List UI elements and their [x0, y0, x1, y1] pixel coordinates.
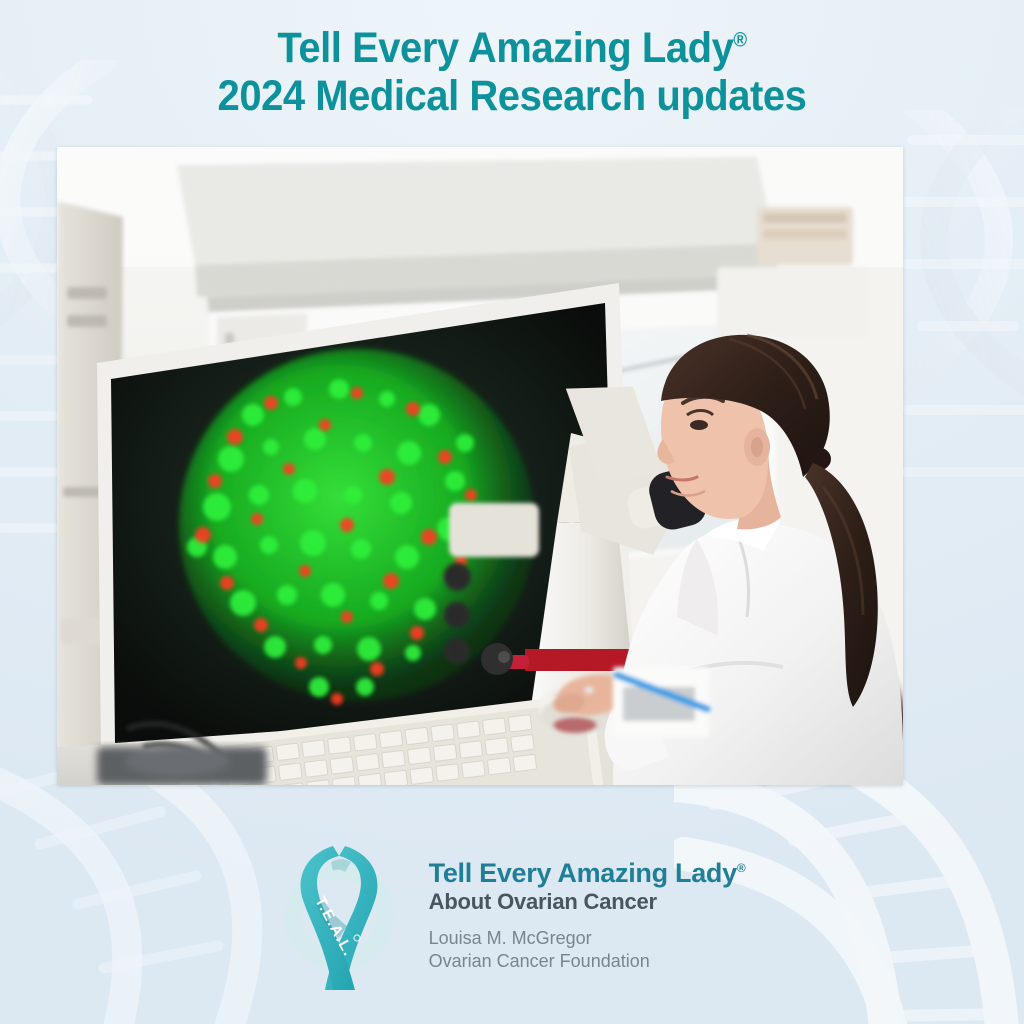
logo-org-line-1: Louisa M. McGregor — [429, 927, 746, 950]
page-title: Tell Every Amazing Lady® 2024 Medical Re… — [0, 26, 1024, 119]
logo-wordmark: Tell Every Amazing Lady® About Ovarian C… — [429, 855, 746, 974]
title-line-2: 2024 Medical Research updates — [36, 74, 988, 119]
logo-org-line-2: Ovarian Cancer Foundation — [429, 950, 746, 973]
logo-registered-trademark-icon: ® — [737, 861, 746, 875]
logo-subtitle: About Ovarian Cancer — [429, 889, 746, 914]
teal-awareness-ribbon-icon: T.E.A.L. — [279, 838, 407, 990]
hero-photo — [57, 147, 903, 785]
poster-canvas: Tell Every Amazing Lady® 2024 Medical Re… — [0, 0, 1024, 1024]
title-line-1: Tell Every Amazing Lady® — [36, 26, 988, 71]
logo-organization: Louisa M. McGregor Ovarian Cancer Founda… — [429, 927, 746, 973]
lab-scene-graphic — [57, 147, 903, 785]
registered-trademark-icon: ® — [733, 30, 746, 52]
title-line-1-text: Tell Every Amazing Lady — [277, 24, 733, 72]
laboratory-photo-illustration — [57, 147, 903, 785]
logo-title: Tell Every Amazing Lady® — [429, 859, 746, 888]
organization-logo-lockup: T.E.A.L. Tell Every Amazing Lady® About … — [0, 838, 1024, 990]
logo-title-text: Tell Every Amazing Lady — [429, 858, 737, 888]
